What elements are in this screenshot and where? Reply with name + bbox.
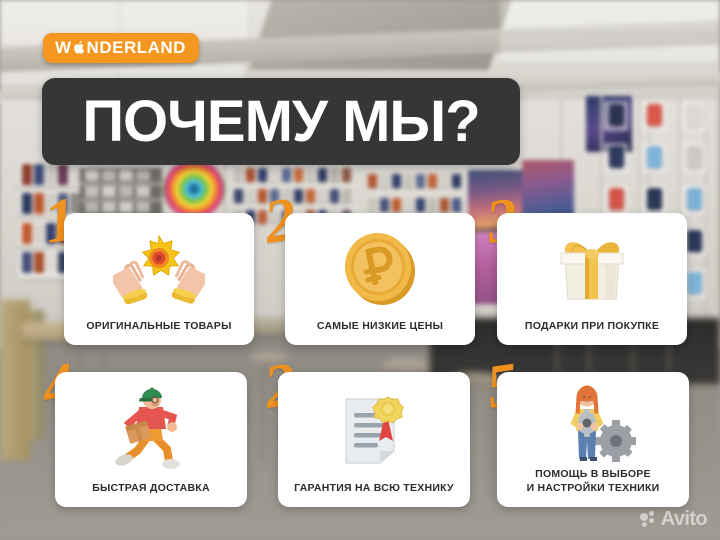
- running-courier-icon: [55, 372, 247, 482]
- feature-card-2-caption: САМЫЕ НИЗКИЕ ЦЕНЫ: [285, 320, 475, 345]
- logo-text-after: NDERLAND: [87, 39, 186, 56]
- feature-card-5-caption: ГАРАНТИЯ НА ВСЮ ТЕХНИКУ: [278, 482, 470, 507]
- headline-banner: ПОЧЕМУ МЫ?: [42, 78, 520, 165]
- ruble-coin-icon: [285, 213, 475, 320]
- feature-card-3-caption: ПОДАРКИ ПРИ ПОКУПКЕ: [497, 320, 687, 345]
- apple-logo-icon: [73, 40, 86, 55]
- feature-card-5[interactable]: ГАРАНТИЯ НА ВСЮ ТЕХНИКУ: [278, 372, 470, 507]
- avito-dots-icon: [640, 511, 657, 528]
- gift-box-icon: [497, 213, 687, 320]
- stool-2: [382, 358, 428, 372]
- person-with-gears-icon: [497, 372, 689, 468]
- feature-card-4-caption: БЫСТРАЯ ДОСТАВКА: [55, 482, 247, 507]
- avito-watermark-text: Avito: [661, 509, 707, 529]
- avito-watermark: Avito: [640, 509, 707, 529]
- feature-card-1-caption: ОРИГИНАЛЬНЫЕ ТОВАРЫ: [64, 320, 254, 345]
- certificate-award-icon: [278, 372, 470, 482]
- feature-card-2[interactable]: САМЫЕ НИЗКИЕ ЦЕНЫ: [285, 213, 475, 345]
- feature-card-4[interactable]: БЫСТРАЯ ДОСТАВКА: [55, 372, 247, 507]
- feature-card-6-caption: ПОМОЩЬ В ВЫБОРЕ И НАСТРОЙКИ ТЕХНИКИ: [497, 468, 689, 507]
- brand-logo: W NDERLAND: [43, 33, 199, 63]
- feature-card-3[interactable]: ПОДАРКИ ПРИ ПОКУПКЕ: [497, 213, 687, 345]
- logo-text-before: W: [55, 39, 72, 56]
- feature-card-1[interactable]: ОРИГИНАЛЬНЫЕ ТОВАРЫ: [64, 213, 254, 345]
- page-title: ПОЧЕМУ МЫ?: [82, 93, 479, 151]
- feature-card-6[interactable]: ПОМОЩЬ В ВЫБОРЕ И НАСТРОЙКИ ТЕХНИКИ: [497, 372, 689, 507]
- hands-holding-sparkle-icon: [64, 213, 254, 320]
